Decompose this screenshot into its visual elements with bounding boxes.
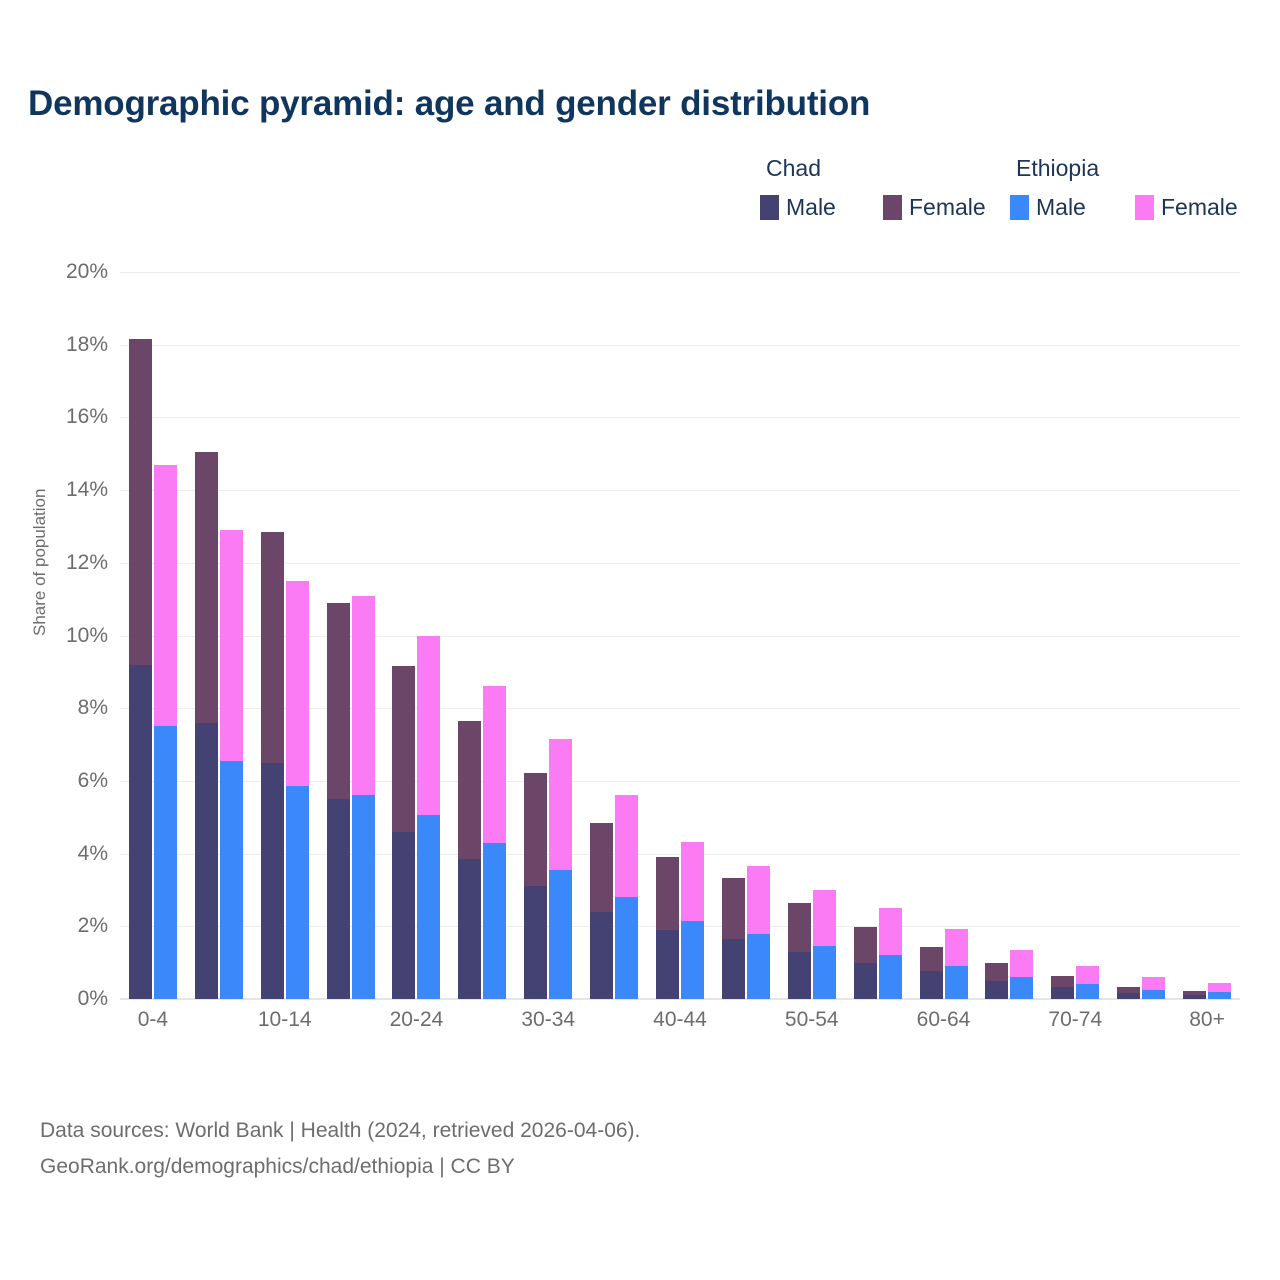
bar-segment-ethiopia-male-35-39[interactable] — [615, 897, 638, 999]
bar-chad-20-24[interactable] — [392, 666, 415, 999]
bar-segment-chad-female-80+[interactable] — [1183, 991, 1206, 995]
bar-chad-30-34[interactable] — [524, 773, 547, 999]
bar-chad-80+[interactable] — [1183, 991, 1206, 999]
footer-data-sources: Data sources: World Bank | Health (2024,… — [40, 1113, 1040, 1149]
y-tick-14%: 14% — [66, 478, 108, 502]
bar-segment-ethiopia-male-80+[interactable] — [1208, 992, 1231, 999]
bar-ethiopia-30-34[interactable] — [549, 739, 572, 999]
x-axis-tick-labels: 0-410-1420-2430-3440-4450-5460-6470-7480… — [120, 1008, 1240, 1048]
legend-label-chad-male: Male — [786, 196, 836, 219]
bar-segment-ethiopia-female-30-34[interactable] — [549, 739, 572, 870]
bar-segment-ethiopia-female-45-49[interactable] — [747, 866, 770, 933]
bar-segment-chad-female-5-9[interactable] — [195, 452, 218, 723]
legend-item-chad-female[interactable]: Female — [883, 195, 986, 220]
legend-group-title-ethiopia: Ethiopia — [1016, 155, 1099, 182]
bar-segment-ethiopia-male-60-64[interactable] — [945, 966, 968, 999]
x-tick-40-44: 40-44 — [653, 1008, 707, 1032]
bar-segment-ethiopia-male-40-44[interactable] — [681, 921, 704, 999]
bar-chad-60-64[interactable] — [920, 947, 943, 999]
bar-segment-ethiopia-male-20-24[interactable] — [417, 815, 440, 999]
bar-segment-chad-female-15-19[interactable] — [327, 603, 350, 799]
bar-segment-chad-male-10-14[interactable] — [261, 763, 284, 999]
bar-ethiopia-0-4[interactable] — [154, 465, 177, 999]
bar-segment-ethiopia-female-60-64[interactable] — [945, 929, 968, 965]
chart-legend: Chad Ethiopia Male Female Male Female — [760, 155, 1260, 235]
bar-ethiopia-65-69[interactable] — [1010, 950, 1033, 999]
legend-swatch-ethiopia-male — [1010, 195, 1029, 220]
page-title: Demographic pyramid: age and gender dist… — [28, 84, 870, 124]
bar-segment-ethiopia-female-20-24[interactable] — [417, 636, 440, 816]
bar-segment-ethiopia-female-70-74[interactable] — [1076, 966, 1099, 984]
y-axis-tick-labels: 0%2%4%6%8%10%12%14%16%18%20% — [0, 272, 108, 999]
bar-ethiopia-15-19[interactable] — [352, 596, 375, 999]
bar-segment-chad-male-40-44[interactable] — [656, 930, 679, 999]
bar-segment-chad-male-60-64[interactable] — [920, 971, 943, 999]
bar-chad-5-9[interactable] — [195, 452, 218, 999]
chart-figure: Demographic pyramid: age and gender dist… — [0, 0, 1280, 1280]
y-tick-18%: 18% — [66, 333, 108, 357]
bar-ethiopia-75-79[interactable] — [1142, 977, 1165, 999]
bar-chad-35-39[interactable] — [590, 823, 613, 999]
bar-segment-ethiopia-male-5-9[interactable] — [220, 761, 243, 999]
bar-segment-ethiopia-male-10-14[interactable] — [286, 786, 309, 999]
bar-ethiopia-55-59[interactable] — [879, 908, 902, 999]
bar-segment-chad-male-80+[interactable] — [1183, 995, 1206, 999]
bar-segment-ethiopia-male-15-19[interactable] — [352, 795, 375, 999]
bar-ethiopia-10-14[interactable] — [286, 581, 309, 999]
bar-segment-chad-female-0-4[interactable] — [129, 339, 152, 664]
legend-group-title-chad: Chad — [766, 155, 821, 182]
bar-segment-ethiopia-male-75-79[interactable] — [1142, 990, 1165, 999]
bar-ethiopia-45-49[interactable] — [747, 866, 770, 999]
x-tick-0-4: 0-4 — [138, 1008, 168, 1032]
bar-segment-chad-male-50-54[interactable] — [788, 952, 811, 999]
footer: Data sources: World Bank | Health (2024,… — [40, 1113, 1040, 1185]
bar-ethiopia-70-74[interactable] — [1076, 966, 1099, 999]
bar-segment-ethiopia-female-10-14[interactable] — [286, 581, 309, 786]
bar-segment-chad-male-5-9[interactable] — [195, 723, 218, 999]
x-tick-30-34: 30-34 — [521, 1008, 575, 1032]
bar-chad-55-59[interactable] — [854, 927, 877, 999]
bar-segment-ethiopia-female-75-79[interactable] — [1142, 977, 1165, 990]
bar-segment-chad-male-35-39[interactable] — [590, 912, 613, 999]
bar-segment-chad-male-45-49[interactable] — [722, 939, 745, 999]
bar-segment-ethiopia-female-5-9[interactable] — [220, 530, 243, 761]
bar-segment-ethiopia-male-55-59[interactable] — [879, 955, 902, 999]
legend-label-ethiopia-female: Female — [1161, 196, 1238, 219]
bar-chad-45-49[interactable] — [722, 878, 745, 999]
x-tick-10-14: 10-14 — [258, 1008, 312, 1032]
bar-segment-ethiopia-female-50-54[interactable] — [813, 890, 836, 946]
x-tick-50-54: 50-54 — [785, 1008, 839, 1032]
bar-ethiopia-25-29[interactable] — [483, 686, 506, 999]
plot-area — [120, 272, 1240, 999]
legend-item-ethiopia-male[interactable]: Male — [1010, 195, 1086, 220]
legend-label-ethiopia-male: Male — [1036, 196, 1086, 219]
bar-ethiopia-20-24[interactable] — [417, 636, 440, 1000]
y-tick-12%: 12% — [66, 551, 108, 575]
y-tick-4%: 4% — [78, 842, 108, 866]
bar-segment-ethiopia-female-80+[interactable] — [1208, 983, 1231, 992]
bar-segment-chad-male-20-24[interactable] — [392, 832, 415, 999]
x-tick-20-24: 20-24 — [390, 1008, 444, 1032]
bar-segment-ethiopia-male-65-69[interactable] — [1010, 977, 1033, 999]
bar-chad-15-19[interactable] — [327, 603, 350, 999]
y-tick-10%: 10% — [66, 624, 108, 648]
legend-label-chad-female: Female — [909, 196, 986, 219]
bar-segment-ethiopia-male-25-29[interactable] — [483, 843, 506, 999]
bar-ethiopia-60-64[interactable] — [945, 929, 968, 999]
bar-segment-chad-male-25-29[interactable] — [458, 859, 481, 999]
bar-chad-10-14[interactable] — [261, 532, 284, 999]
bar-segment-chad-male-30-34[interactable] — [524, 886, 547, 999]
bar-segment-ethiopia-female-35-39[interactable] — [615, 795, 638, 897]
bar-segment-ethiopia-male-45-49[interactable] — [747, 934, 770, 999]
x-tick-80+: 80+ — [1189, 1008, 1225, 1032]
bar-ethiopia-50-54[interactable] — [813, 890, 836, 999]
y-tick-6%: 6% — [78, 769, 108, 793]
bar-chad-65-69[interactable] — [985, 963, 1008, 999]
bar-segment-ethiopia-male-50-54[interactable] — [813, 946, 836, 999]
bar-segment-chad-female-40-44[interactable] — [656, 857, 679, 930]
bar-chad-70-74[interactable] — [1051, 976, 1074, 999]
y-tick-2%: 2% — [78, 914, 108, 938]
bar-chad-40-44[interactable] — [656, 857, 679, 999]
bar-segment-chad-female-50-54[interactable] — [788, 903, 811, 952]
bar-segment-chad-female-65-69[interactable] — [985, 963, 1008, 980]
bar-segment-ethiopia-male-70-74[interactable] — [1076, 984, 1099, 999]
bar-segment-chad-female-20-24[interactable] — [392, 666, 415, 831]
footer-attribution: GeoRank.org/demographics/chad/ethiopia |… — [40, 1149, 1040, 1185]
bar-segment-chad-female-70-74[interactable] — [1051, 976, 1074, 987]
bar-segment-chad-female-60-64[interactable] — [920, 947, 943, 970]
x-tick-60-64: 60-64 — [917, 1008, 971, 1032]
bar-ethiopia-80+[interactable] — [1208, 983, 1231, 999]
y-tick-0%: 0% — [78, 987, 108, 1011]
legend-swatch-ethiopia-female — [1135, 195, 1154, 220]
bar-segment-chad-female-75-79[interactable] — [1117, 987, 1140, 992]
bar-segment-ethiopia-female-15-19[interactable] — [352, 596, 375, 796]
bar-segment-chad-female-10-14[interactable] — [261, 532, 284, 763]
bar-segment-ethiopia-female-25-29[interactable] — [483, 686, 506, 842]
legend-item-ethiopia-female[interactable]: Female — [1135, 195, 1238, 220]
y-tick-20%: 20% — [66, 260, 108, 284]
bar-segment-chad-male-70-74[interactable] — [1051, 987, 1074, 999]
bar-chad-50-54[interactable] — [788, 903, 811, 999]
legend-swatch-chad-female — [883, 195, 902, 220]
bar-segment-chad-male-55-59[interactable] — [854, 963, 877, 999]
legend-item-chad-male[interactable]: Male — [760, 195, 836, 220]
legend-swatch-chad-male — [760, 195, 779, 220]
bar-segment-chad-male-75-79[interactable] — [1117, 993, 1140, 999]
bar-segment-chad-female-25-29[interactable] — [458, 721, 481, 859]
bar-segment-ethiopia-male-30-34[interactable] — [549, 870, 572, 999]
y-tick-16%: 16% — [66, 405, 108, 429]
bar-segment-ethiopia-female-55-59[interactable] — [879, 908, 902, 955]
bar-segment-chad-female-45-49[interactable] — [722, 878, 745, 939]
bar-segment-ethiopia-female-0-4[interactable] — [154, 465, 177, 727]
bar-segment-ethiopia-male-0-4[interactable] — [154, 726, 177, 999]
bar-ethiopia-35-39[interactable] — [615, 795, 638, 999]
bar-segment-ethiopia-female-65-69[interactable] — [1010, 950, 1033, 977]
bar-segment-chad-male-15-19[interactable] — [327, 799, 350, 999]
bar-ethiopia-5-9[interactable] — [220, 530, 243, 999]
bars-layer — [120, 272, 1240, 999]
bar-ethiopia-40-44[interactable] — [681, 842, 704, 999]
bar-segment-chad-female-55-59[interactable] — [854, 927, 877, 962]
bar-chad-25-29[interactable] — [458, 721, 481, 999]
bar-chad-0-4[interactable] — [129, 339, 152, 999]
bar-segment-chad-female-35-39[interactable] — [590, 823, 613, 912]
x-tick-70-74: 70-74 — [1048, 1008, 1102, 1032]
y-tick-8%: 8% — [78, 696, 108, 720]
bar-chad-75-79[interactable] — [1117, 987, 1140, 999]
bar-segment-chad-male-0-4[interactable] — [129, 665, 152, 999]
bar-segment-chad-male-65-69[interactable] — [985, 981, 1008, 999]
bar-segment-ethiopia-female-40-44[interactable] — [681, 842, 704, 921]
bar-segment-chad-female-30-34[interactable] — [524, 773, 547, 886]
